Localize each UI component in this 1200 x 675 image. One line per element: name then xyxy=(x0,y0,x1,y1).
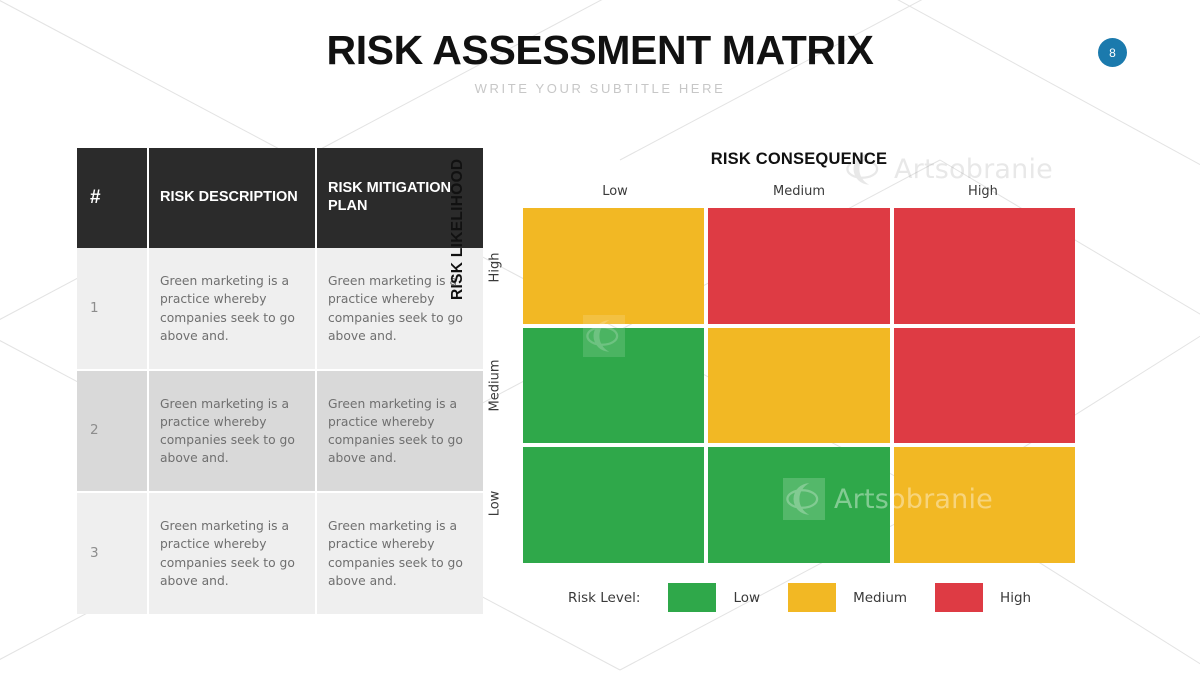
matrix-y-tick-medium-text: Medium xyxy=(488,359,503,411)
legend-swatch-low xyxy=(668,583,716,612)
row-number: 2 xyxy=(77,370,148,492)
legend-item-high: High xyxy=(935,583,1031,612)
legend-label-high: High xyxy=(1000,590,1031,606)
matrix-cell-medium-high xyxy=(894,328,1075,444)
matrix-x-tick-low: Low xyxy=(523,184,707,199)
matrix-cell-medium-low xyxy=(523,328,704,444)
row-description: Green marketing is a practice whereby co… xyxy=(148,370,316,492)
matrix-x-tick-labels: Low Medium High xyxy=(523,184,1075,199)
matrix-cell-low-medium xyxy=(708,447,889,563)
matrix-y-tick-low: Low xyxy=(480,445,510,563)
matrix-x-tick-medium: Medium xyxy=(707,184,891,199)
legend-label-low: Low xyxy=(733,590,760,606)
matrix-y-tick-low-text: Low xyxy=(487,491,502,517)
table-row: 1 Green marketing is a practice whereby … xyxy=(77,248,483,370)
page-title: RISK ASSESSMENT MATRIX xyxy=(0,27,1200,74)
legend-swatch-high xyxy=(935,583,983,612)
matrix-y-tick-labels: High Medium Low xyxy=(480,208,510,563)
legend-item-low: Low xyxy=(668,583,760,612)
table-row: 3 Green marketing is a practice whereby … xyxy=(77,492,483,614)
slide-canvas: RISK ASSESSMENT MATRIX WRITE YOUR SUBTIT… xyxy=(0,0,1200,675)
matrix-cell-medium-medium xyxy=(708,328,889,444)
row-mitigation: Green marketing is a practice whereby co… xyxy=(316,370,483,492)
risk-table: # RISK DESCRIPTION RISK MITIGATION PLAN … xyxy=(77,148,483,614)
matrix-y-tick-high-text: High xyxy=(487,252,502,282)
matrix-y-axis-title: RISK LIKELIHOOD xyxy=(449,159,467,300)
column-header-description: RISK DESCRIPTION xyxy=(148,148,316,248)
legend-item-medium: Medium xyxy=(788,583,907,612)
table-row: 2 Green marketing is a practice whereby … xyxy=(77,370,483,492)
matrix-x-axis-title: RISK CONSEQUENCE xyxy=(523,150,1075,169)
page-subtitle: WRITE YOUR SUBTITLE HERE xyxy=(0,81,1200,96)
row-mitigation: Green marketing is a practice whereby co… xyxy=(316,492,483,614)
matrix-cell-low-high xyxy=(894,447,1075,563)
matrix-cell-low-low xyxy=(523,447,704,563)
table-header-row: # RISK DESCRIPTION RISK MITIGATION PLAN xyxy=(77,148,483,248)
row-number: 1 xyxy=(77,248,148,370)
matrix-cell-high-low xyxy=(523,208,704,324)
matrix-y-tick-medium: Medium xyxy=(480,326,510,444)
page-number-badge: 8 xyxy=(1098,38,1127,67)
row-description: Green marketing is a practice whereby co… xyxy=(148,248,316,370)
matrix-cell-high-high xyxy=(894,208,1075,324)
legend-title: Risk Level: xyxy=(568,590,640,606)
column-header-number: # xyxy=(77,148,148,248)
matrix-cell-high-medium xyxy=(708,208,889,324)
risk-matrix-grid xyxy=(523,208,1075,563)
matrix-x-tick-high: High xyxy=(891,184,1075,199)
legend-label-medium: Medium xyxy=(853,590,907,606)
row-description: Green marketing is a practice whereby co… xyxy=(148,492,316,614)
legend-swatch-medium xyxy=(788,583,836,612)
row-number: 3 xyxy=(77,492,148,614)
matrix-y-tick-high: High xyxy=(480,208,510,326)
risk-level-legend: Risk Level: Low Medium High xyxy=(568,583,1059,612)
